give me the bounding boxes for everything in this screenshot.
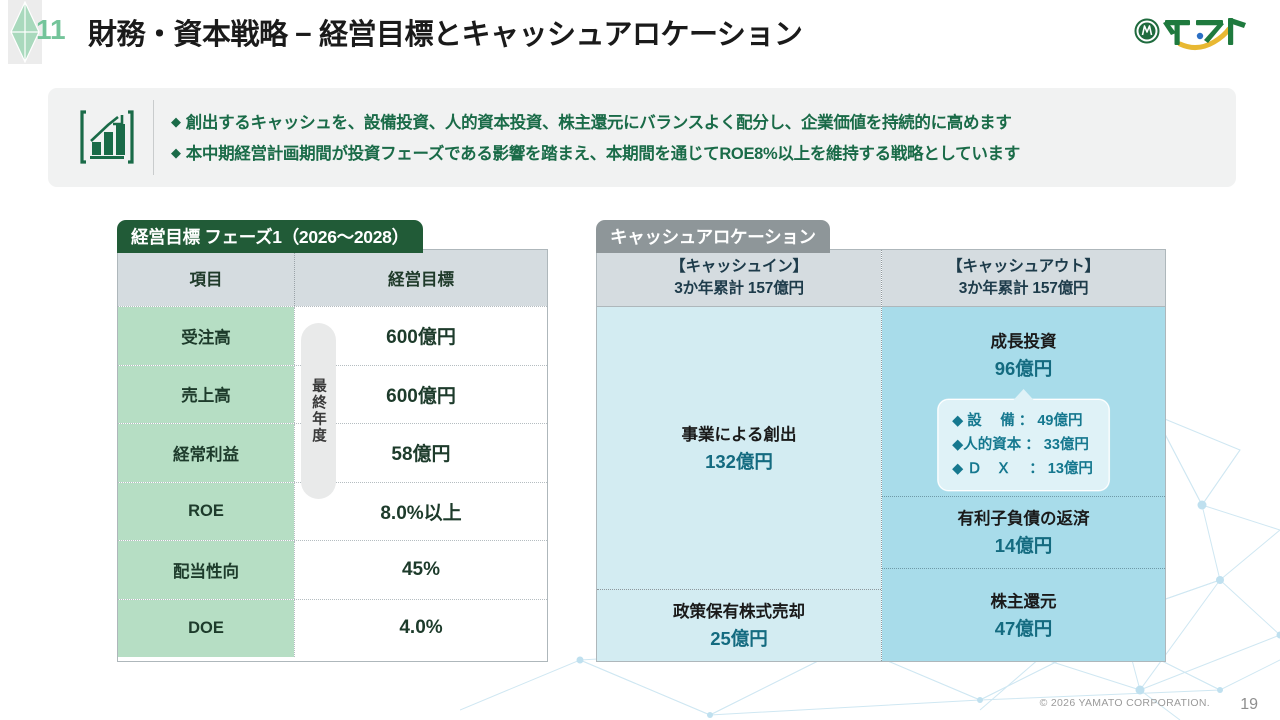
cash-out-item-shareholder: 株主還元 47億円 — [882, 568, 1165, 661]
key-message-band: ◆創出するキャッシュを、設備投資、人的資本投資、株主還元にバランスよく配分し、企… — [48, 88, 1236, 187]
management-targets-tab: 経営目標 フェーズ1（2026〜2028） — [117, 220, 423, 253]
callout-pointer-icon — [1013, 389, 1035, 401]
row-value: 45% — [294, 541, 547, 599]
cash-allocation-panel: 【キャッシュイン】 3か年累計 157億円 事業による創出 132億円 政策保有… — [596, 249, 1166, 662]
cash-out-item-label: 成長投資 — [991, 329, 1057, 355]
page-title: 財務・資本戦略 − 経営目標とキャッシュアロケーション — [88, 11, 802, 53]
cash-in-header-line1: 【キャッシュイン】 — [670, 256, 808, 278]
bar-chart-growth-icon — [78, 108, 136, 166]
cash-out-header-line2: 3か年累計 157億円 — [959, 278, 1089, 300]
row-label: 売上高 — [118, 366, 294, 424]
column-header-item: 項目 — [118, 250, 294, 306]
row-label: 配当性向 — [118, 541, 294, 599]
management-targets-header-row: 項目 経営目標 — [118, 250, 547, 306]
slide-number: 11 — [36, 14, 66, 46]
message-divider — [153, 100, 154, 175]
column-header-target: 経営目標 — [294, 250, 547, 306]
cash-in-item-amount: 132億円 — [705, 448, 773, 475]
cash-out-item-growth: 成長投資 96億円 ◆ 設 備 ： 49億円 ◆人的資本 ： 33億円 ◆ Ｄ … — [882, 306, 1165, 496]
cash-in-column: 【キャッシュイン】 3か年累計 157億円 事業による創出 132億円 政策保有… — [597, 250, 881, 661]
table-row: 配当性向 45% — [118, 540, 547, 599]
cash-allocation-tab: キャッシュアロケーション — [596, 220, 830, 253]
diamond-bullet-icon: ◆ — [171, 145, 181, 160]
message-bullet-2: ◆本中期経営計画期間が投資フェーズである影響を踏まえ、本期間を通じてROE8%以… — [171, 139, 1020, 170]
cash-out-column: 【キャッシュアウト】 3か年累計 157億円 成長投資 96億円 ◆ 設 備 ：… — [881, 250, 1165, 661]
slide-header: 11 財務・資本戦略 − 経営目標とキャッシュアロケーション — [0, 0, 1280, 66]
cash-out-item-label: 有利子負債の返済 — [958, 506, 1090, 532]
cash-out-item-amount: 96億円 — [995, 355, 1053, 382]
message-bullet-1-text: 創出するキャッシュを、設備投資、人的資本投資、株主還元にバランスよく配分し、企業… — [186, 114, 1012, 132]
yamato-logo — [1134, 10, 1250, 52]
cash-in-item-label: 事業による創出 — [681, 422, 796, 448]
cash-in-item-label: 政策保有株式売却 — [673, 599, 805, 625]
final-year-badge: 最終年度 — [301, 323, 336, 499]
cash-out-header: 【キャッシュアウト】 3か年累計 157億円 — [882, 250, 1165, 306]
callout-line-3: ◆ Ｄ Ｘ ： 13億円 — [952, 457, 1093, 481]
cash-out-item-debt: 有利子負債の返済 14億円 — [882, 496, 1165, 568]
callout-line-2: ◆人的資本 ： 33億円 — [952, 433, 1093, 457]
cash-in-header-line2: 3か年累計 157億円 — [674, 278, 804, 300]
cash-in-item-amount: 25億円 — [710, 625, 768, 652]
final-year-badge-label: 最終年度 — [308, 378, 329, 444]
page-number: 19 — [1240, 696, 1258, 714]
copyright-text: © 2026 YAMATO CORPORATION. — [1040, 697, 1210, 709]
message-bullet-2-text: 本中期経営計画期間が投資フェーズである影響を踏まえ、本期間を通じてROE8%以上… — [186, 145, 1020, 163]
row-label: 受注高 — [118, 307, 294, 365]
row-value: 4.0% — [294, 600, 547, 658]
message-bullet-1: ◆創出するキャッシュを、設備投資、人的資本投資、株主還元にバランスよく配分し、企… — [171, 108, 1020, 139]
row-label: 経常利益 — [118, 424, 294, 482]
cash-in-item-business: 事業による創出 132億円 — [597, 306, 881, 589]
callout-line-1: ◆ 設 備 ： 49億円 — [952, 409, 1093, 433]
diamond-bullet-icon: ◆ — [171, 114, 181, 129]
cash-out-item-amount: 14億円 — [995, 532, 1053, 559]
cash-out-item-label: 株主還元 — [991, 589, 1057, 615]
row-label: ROE — [118, 483, 294, 541]
cash-out-header-line1: 【キャッシュアウト】 — [947, 256, 1100, 278]
management-targets-panel: 項目 経営目標 受注高 600億円 売上高 600億円 経常利益 58億円 RO… — [117, 249, 548, 662]
row-label: DOE — [118, 600, 294, 658]
table-row: DOE 4.0% — [118, 599, 547, 658]
growth-investment-callout: ◆ 設 備 ： 49億円 ◆人的資本 ： 33億円 ◆ Ｄ Ｘ ： 13億円 — [937, 399, 1110, 491]
cash-in-item-shares: 政策保有株式売却 25億円 — [597, 589, 881, 661]
message-bullet-list: ◆創出するキャッシュを、設備投資、人的資本投資、株主還元にバランスよく配分し、企… — [171, 108, 1020, 170]
cash-in-header: 【キャッシュイン】 3か年累計 157億円 — [597, 250, 881, 306]
cash-out-item-amount: 47億円 — [995, 615, 1053, 642]
